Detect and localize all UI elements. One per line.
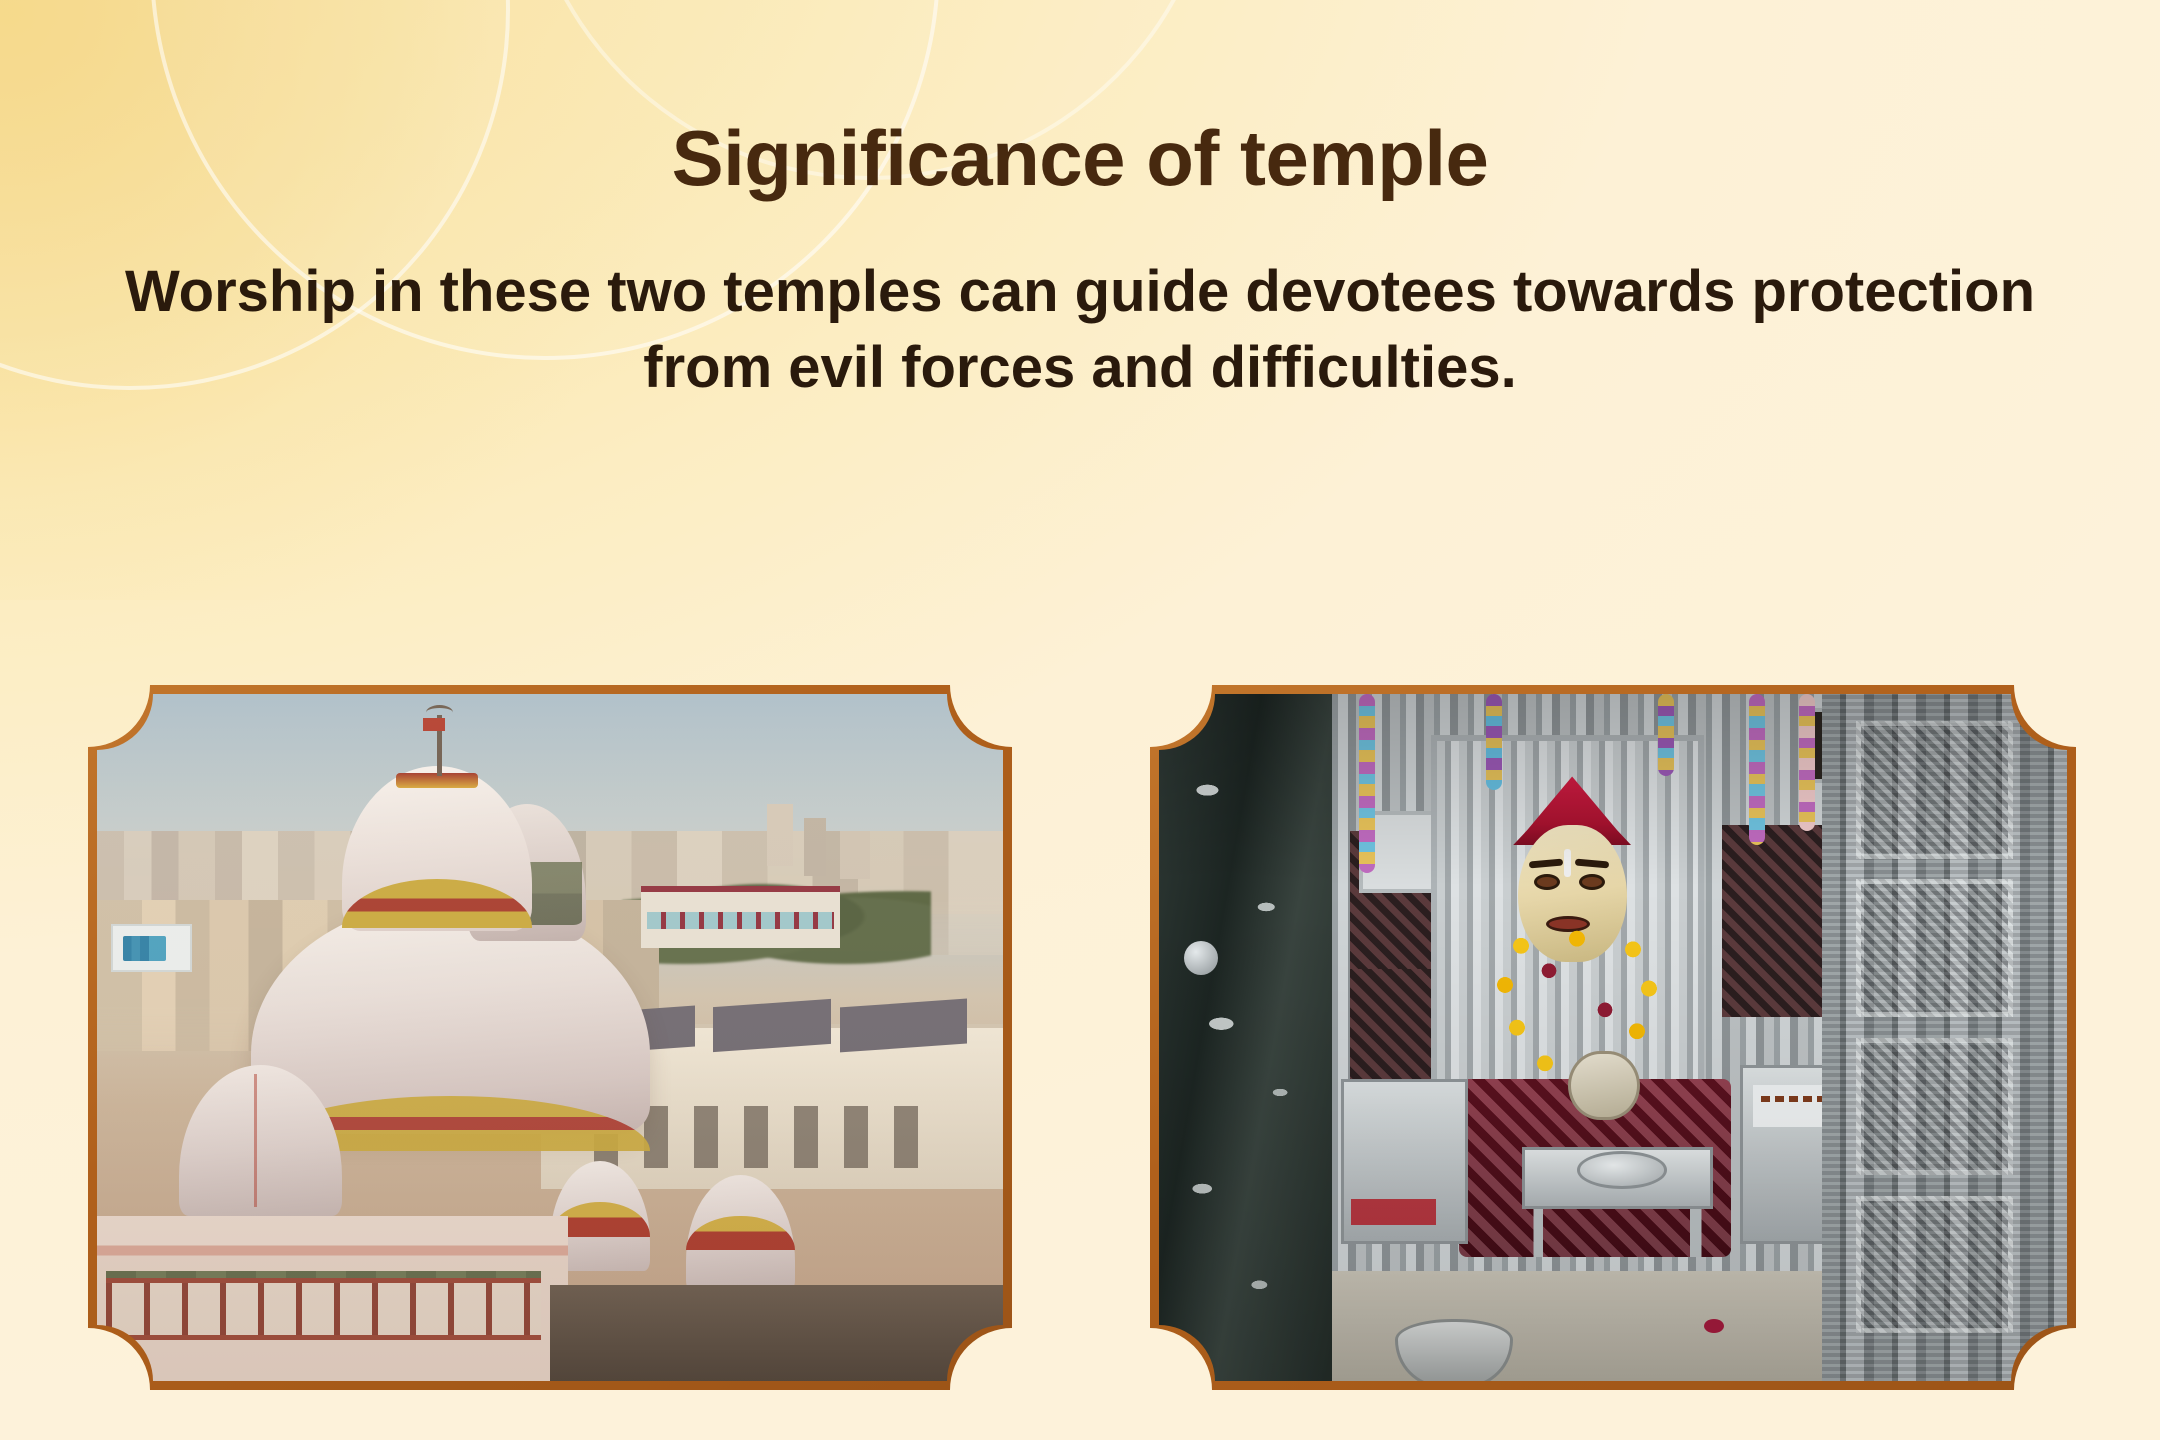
image-frame-right xyxy=(1150,685,2076,1390)
temple-aerial-photo xyxy=(97,694,1003,1381)
image-frame-left-inner xyxy=(97,694,1003,1381)
header: Significance of temple Worship in these … xyxy=(0,118,2160,407)
page-title: Significance of temple xyxy=(0,118,2160,200)
image-frame-left xyxy=(88,685,1012,1390)
temple-sanctum-photo xyxy=(1159,694,2067,1381)
slide-canvas: Significance of temple Worship in these … xyxy=(0,0,2160,1440)
page-subtitle: Worship in these two temples can guide d… xyxy=(115,254,2045,407)
image-frame-right-inner xyxy=(1159,694,2067,1381)
image-gallery xyxy=(0,685,2160,1390)
